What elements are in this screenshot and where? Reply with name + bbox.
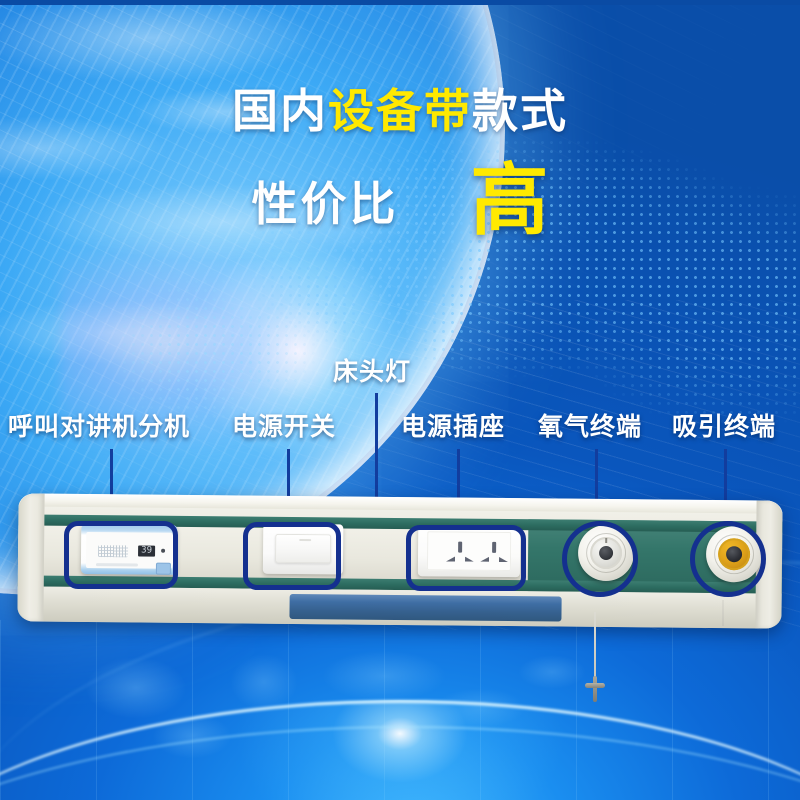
pull-cord [594, 612, 596, 682]
promo-banner: 国内设备带款式 性价比 高 呼叫对讲机分机 电源开关 床头灯 电源插座 氧气终端… [0, 0, 800, 800]
callout-label-power-socket: 电源插座 [401, 415, 505, 440]
pull-cord-secondary [722, 600, 724, 626]
callout-label-suction-terminal: 吸引终端 [672, 415, 776, 440]
highlight-nurse-call-intercom [64, 521, 178, 589]
pull-cord-handle-stem [593, 676, 597, 702]
panel-end-cap-left [17, 493, 44, 621]
headline-emphasis: 高 [470, 161, 548, 239]
panel-top-edge [19, 493, 783, 513]
highlight-oxygen-terminal [562, 521, 638, 597]
callout-label-bedside-lamp: 床头灯 [333, 360, 411, 385]
headline-part-2: 设备带 [328, 85, 472, 137]
pull-cord-handle[interactable] [585, 676, 605, 702]
headline-subtitle: 性价比 [251, 181, 398, 227]
panel-accessory-rail [289, 594, 561, 622]
pull-cord-handle-cross [585, 683, 605, 688]
headline-part-1: 国内 [232, 85, 328, 137]
top-edge-bar [0, 0, 800, 5]
headline-part-3: 款式 [472, 85, 568, 137]
headline-primary: 国内设备带款式 [0, 88, 800, 134]
callout-label-oxygen-terminal: 氧气终端 [538, 415, 642, 440]
highlight-power-socket [406, 525, 526, 591]
highlight-power-switch [243, 522, 341, 590]
callout-label-nurse-call-intercom: 呼叫对讲机分机 [8, 415, 190, 440]
headline-secondary: 性价比 高 [0, 165, 800, 243]
callout-label-power-switch: 电源开关 [232, 415, 336, 440]
highlight-suction-terminal [690, 521, 766, 597]
